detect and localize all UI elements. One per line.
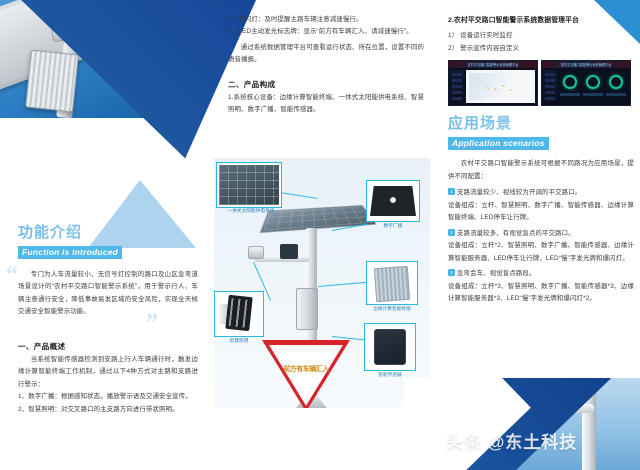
overview-paragraph-1: 当系统智能传感器检测到支路上行人车辆通行时，触发边缘计算智能终端工作机制，通过以… <box>18 354 198 391</box>
callout-solar-power-system <box>216 162 282 208</box>
application-title-en: Application scenarios <box>448 137 549 150</box>
middle-paragraph-3: 通过系统数据管理平台可查看运行状态、所在位置，设置不同的语音播报。 <box>228 42 424 67</box>
dashboard-map-view: 农村平交路口智能警示系统管理平台 <box>448 60 538 106</box>
callout-label-solar: 一体式太阳能供电系统 <box>214 208 292 214</box>
smart-sensor-image <box>374 329 406 365</box>
left-column: 功能介绍 Function is introduced “ 专门为人车流量较小、… <box>18 224 198 416</box>
callout-label-horn: 数字广播 <box>366 223 420 229</box>
dashboard-screenshots: 农村平交路口智能警示系统管理平台 农村平交路口智能警示系统管理平台 <box>448 60 634 106</box>
function-title-cn: 功能介绍 <box>18 224 198 242</box>
function-title-en: Function is introduced <box>18 246 122 259</box>
callout-smart-lighting <box>214 291 264 337</box>
dashboard-sidebar-2 <box>543 70 557 104</box>
application-title-cn: 应用场景 <box>448 115 634 133</box>
dashboard-gauges <box>559 75 627 89</box>
arm-led-module <box>280 244 298 259</box>
middle-paragraph-1: 3、频闪灯：及时提醒主路车辆注意减速慢行。 <box>228 14 424 26</box>
product-composition-heading: 二、产品构成 <box>228 79 424 90</box>
dashboard-title-2: 农村平交路口智能警示系统管理平台 <box>561 62 612 67</box>
lighting-module-image <box>225 295 252 331</box>
dashboard-map-canvas <box>466 70 535 103</box>
horn-speaker-image <box>370 184 416 218</box>
scenario-2-detail: 设备组成：立杆*2、智慧照明、数字广播、智能传感器、边缘计算智能服务器、LED停… <box>448 240 634 265</box>
gauge-ring <box>586 75 600 89</box>
dashboard-gauge-view: 农村平交路口智能警示系统管理平台 <box>541 60 631 106</box>
scenario-1: 1支路流量较少、视线较为开阔的平交路口。 设备组成：立杆、智慧照明、数字广播、智… <box>448 187 634 224</box>
pole-cabinet <box>296 288 318 330</box>
scenario-1-detail: 设备组成：立杆、智慧照明、数字广播、智能传感器、边缘计算智能终端、LED停车让行… <box>448 200 634 225</box>
dashboard-title-1: 农村平交路口智能警示系统管理平台 <box>468 62 519 67</box>
arm-sensor-head <box>248 246 264 259</box>
dashboard-sidebar-1 <box>450 70 464 104</box>
overview-paragraph-3: 2、智慧照明：对交叉路口的主支路方向进行带状照明。 <box>18 404 198 416</box>
middle-paragraph-2: 4、LED主动发光标志牌：显示“前方有车辆汇入、请减速慢行”。 <box>228 26 424 38</box>
platform-heading: 2.农村平交路口智能警示系统数据管理平台 <box>448 14 634 27</box>
product-overview-heading: 一、产品概述 <box>18 341 198 352</box>
edge-terminal-enclosure <box>25 50 79 113</box>
platform-item-1: 1） 设备运行实时监控 <box>448 30 634 42</box>
callout-smart-sensor <box>364 323 416 371</box>
dashboard-gauge-labels <box>559 93 627 96</box>
scenario-number-badge: 2 <box>448 229 455 236</box>
brochure-page: 功能介绍 Function is introduced “ 专门为人车流量较小、… <box>0 0 640 470</box>
callout-label-edge: 边缘计算智能终端 <box>360 306 424 312</box>
gauge-ring <box>609 75 623 89</box>
scenario-3-headline: 急弯会车、视觉盲点路段。 <box>457 270 536 277</box>
led-yield-sign: 前方有车辆汇入 <box>262 340 350 408</box>
product-assembly-diagram: 前方有车辆汇入 一体式太阳能供电系统 数字广播 边缘计算智能终端 智能传感器 <box>214 158 430 408</box>
scenario-2-headline: 支路流量较多、有视觉盲点的平交路口。 <box>457 230 575 237</box>
bottom-installation-photo <box>404 378 640 470</box>
edge-terminal-image <box>374 266 410 302</box>
scenario-1-headline: 支路流量较少、视线较为开阔的平交路口。 <box>457 189 581 196</box>
scenario-2: 2支路流量较多、有视觉盲点的平交路口。 设备组成：立杆*2、智慧照明、数字广播、… <box>448 228 634 265</box>
application-intro: 农村平交路口智能警示系统可根据不同路况为应用场景，提供不同配置： <box>448 158 634 183</box>
watermark-text: 头条 @东土科技 <box>446 428 577 453</box>
scenario-number-badge: 3 <box>448 269 455 276</box>
middle-column: 3、频闪灯：及时提醒主路车辆注意减速慢行。 4、LED主动发光标志牌：显示“前方… <box>228 14 424 117</box>
gauge-ring <box>563 75 577 89</box>
scenario-3: 3急弯会车、视觉盲点路段。 设备组成：立杆*3、智慧照明、数字广播、智能传感器*… <box>448 268 634 305</box>
yield-sign-text: 前方有车辆汇入 <box>283 364 329 374</box>
solar-module-image <box>219 165 279 205</box>
callout-digital-broadcast <box>366 180 420 222</box>
scenario-3-detail: 设备组成：立杆*3、智慧照明、数字广播、智能传感器*3、边缘计算智能服务器*3、… <box>448 281 634 306</box>
callout-label-light: 智慧照明 <box>214 338 264 344</box>
quote-open-mark: “ <box>6 263 18 287</box>
overview-paragraph-2: 1、数字广播：根据感知状态，播放警示语及交通安全宣传。 <box>18 391 198 403</box>
scenario-number-badge: 1 <box>448 188 455 195</box>
quote-close-mark: ” <box>146 311 158 335</box>
platform-item-2: 2） 警示宣传内容自定义 <box>448 43 634 55</box>
composition-paragraph: 1.系统核心设备：边缘计算智能终端、一体式太阳能供电系统、智慧照明、数字广播、智… <box>228 92 424 117</box>
right-column: 2.农村平交路口智能警示系统数据管理平台 1） 设备运行实时监控 2） 警示宣传… <box>448 14 634 306</box>
function-intro-paragraph: 专门为人车流量较小、无信号灯控制的路口及山区急弯道场景设计的“农村平交路口智能警… <box>18 269 198 319</box>
callout-edge-terminal <box>366 261 418 305</box>
